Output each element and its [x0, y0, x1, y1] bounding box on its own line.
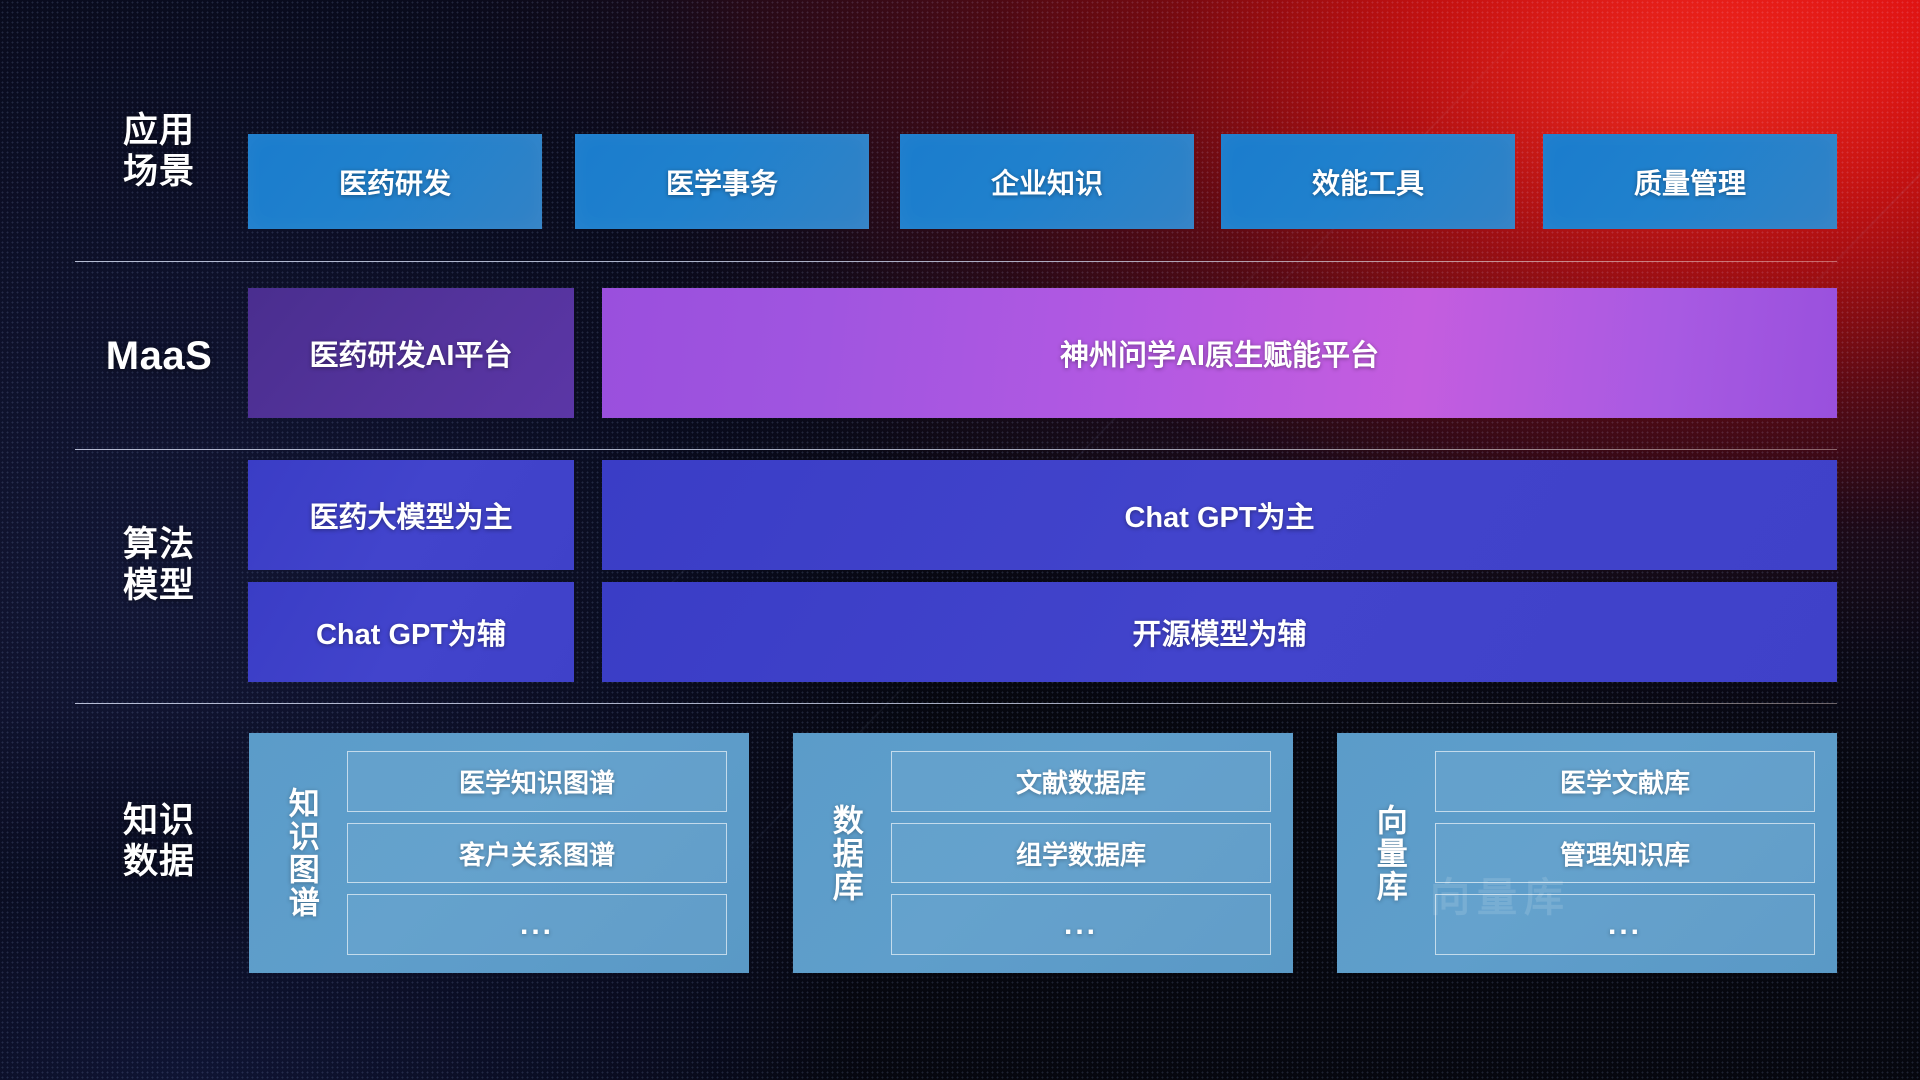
knowledge-card-item-list: 文献数据库 组学数据库 ... — [887, 745, 1279, 961]
algo-left-box-1[interactable]: Chat GPT为辅 — [248, 582, 574, 682]
knowledge-card-item-list: 医学文献库 管理知识库 ... — [1431, 745, 1823, 961]
algo-right-box-0[interactable]: Chat GPT为主 — [602, 460, 1837, 570]
row-label-algorithm-model: 算法 模型 — [75, 524, 243, 607]
row-label-line: 场景 — [75, 151, 243, 192]
row-label-line: 算法 — [75, 524, 243, 565]
section-divider-1 — [75, 261, 1837, 262]
knowledge-card-item[interactable]: 管理知识库 — [1435, 823, 1815, 884]
row-label-line: 应用 — [75, 110, 243, 151]
knowledge-card-item-more[interactable]: ... — [891, 894, 1271, 955]
knowledge-card-item[interactable]: 医学知识图谱 — [347, 751, 727, 812]
row-label-line: 数据 — [75, 841, 243, 882]
knowledge-card-vector-store[interactable]: 向量库 医学文献库 管理知识库 ... — [1337, 733, 1837, 973]
row-label-maas: MaaS — [75, 333, 243, 380]
knowledge-card-item[interactable]: 客户关系图谱 — [347, 823, 727, 884]
knowledge-card-item[interactable]: 医学文献库 — [1435, 751, 1815, 812]
knowledge-card-title: 数据库 — [803, 745, 887, 961]
knowledge-card-item[interactable]: 文献数据库 — [891, 751, 1271, 812]
row-label-application-scenarios: 应用 场景 — [75, 110, 243, 193]
row-label-line: 模型 — [75, 565, 243, 606]
app-scenario-box-2[interactable]: 企业知识 — [900, 134, 1194, 229]
algo-left-box-0[interactable]: 医药大模型为主 — [248, 460, 574, 570]
app-scenario-box-4[interactable]: 质量管理 — [1543, 134, 1837, 229]
knowledge-card-database[interactable]: 数据库 文献数据库 组学数据库 ... — [793, 733, 1293, 973]
app-scenario-box-3[interactable]: 效能工具 — [1221, 134, 1515, 229]
section-divider-3 — [75, 703, 1837, 704]
knowledge-card-item-more[interactable]: ... — [347, 894, 727, 955]
knowledge-card-knowledge-graph[interactable]: 知识图谱 医学知识图谱 客户关系图谱 ... — [249, 733, 749, 973]
maas-platform-box-shenzhou[interactable]: 神州问学AI原生赋能平台 — [602, 288, 1837, 418]
maas-platform-box-pharma[interactable]: 医药研发AI平台 — [248, 288, 574, 418]
knowledge-card-item-list: 医学知识图谱 客户关系图谱 ... — [343, 745, 735, 961]
row-label-knowledge-data: 知识 数据 — [75, 800, 243, 883]
row-label-line: 知识 — [75, 800, 243, 841]
app-scenario-box-0[interactable]: 医药研发 — [248, 134, 542, 229]
knowledge-card-title: 向量库 — [1347, 745, 1431, 961]
app-scenario-box-1[interactable]: 医学事务 — [575, 134, 869, 229]
knowledge-card-item[interactable]: 组学数据库 — [891, 823, 1271, 884]
section-divider-2 — [75, 449, 1837, 450]
knowledge-card-title: 知识图谱 — [259, 745, 343, 961]
algo-right-box-1[interactable]: 开源模型为辅 — [602, 582, 1837, 682]
knowledge-card-item-more[interactable]: ... — [1435, 894, 1815, 955]
